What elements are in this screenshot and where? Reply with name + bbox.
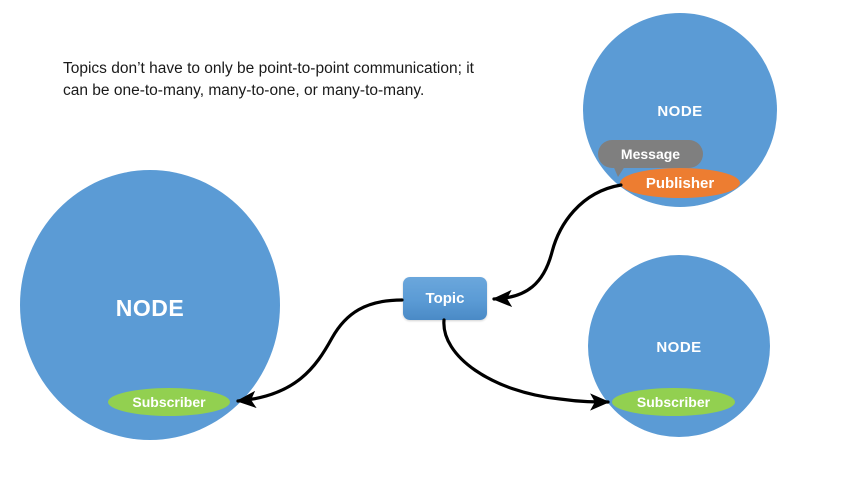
slide-canvas: Topics don’t have to only be point-to-po… [0,0,854,480]
connector-arrows-layer [0,0,854,480]
arrow-publisher-to-topic [494,185,621,299]
arrow-topic-to-bottom-right-subscriber [444,320,608,402]
arrow-topic-to-left-subscriber [238,300,402,401]
